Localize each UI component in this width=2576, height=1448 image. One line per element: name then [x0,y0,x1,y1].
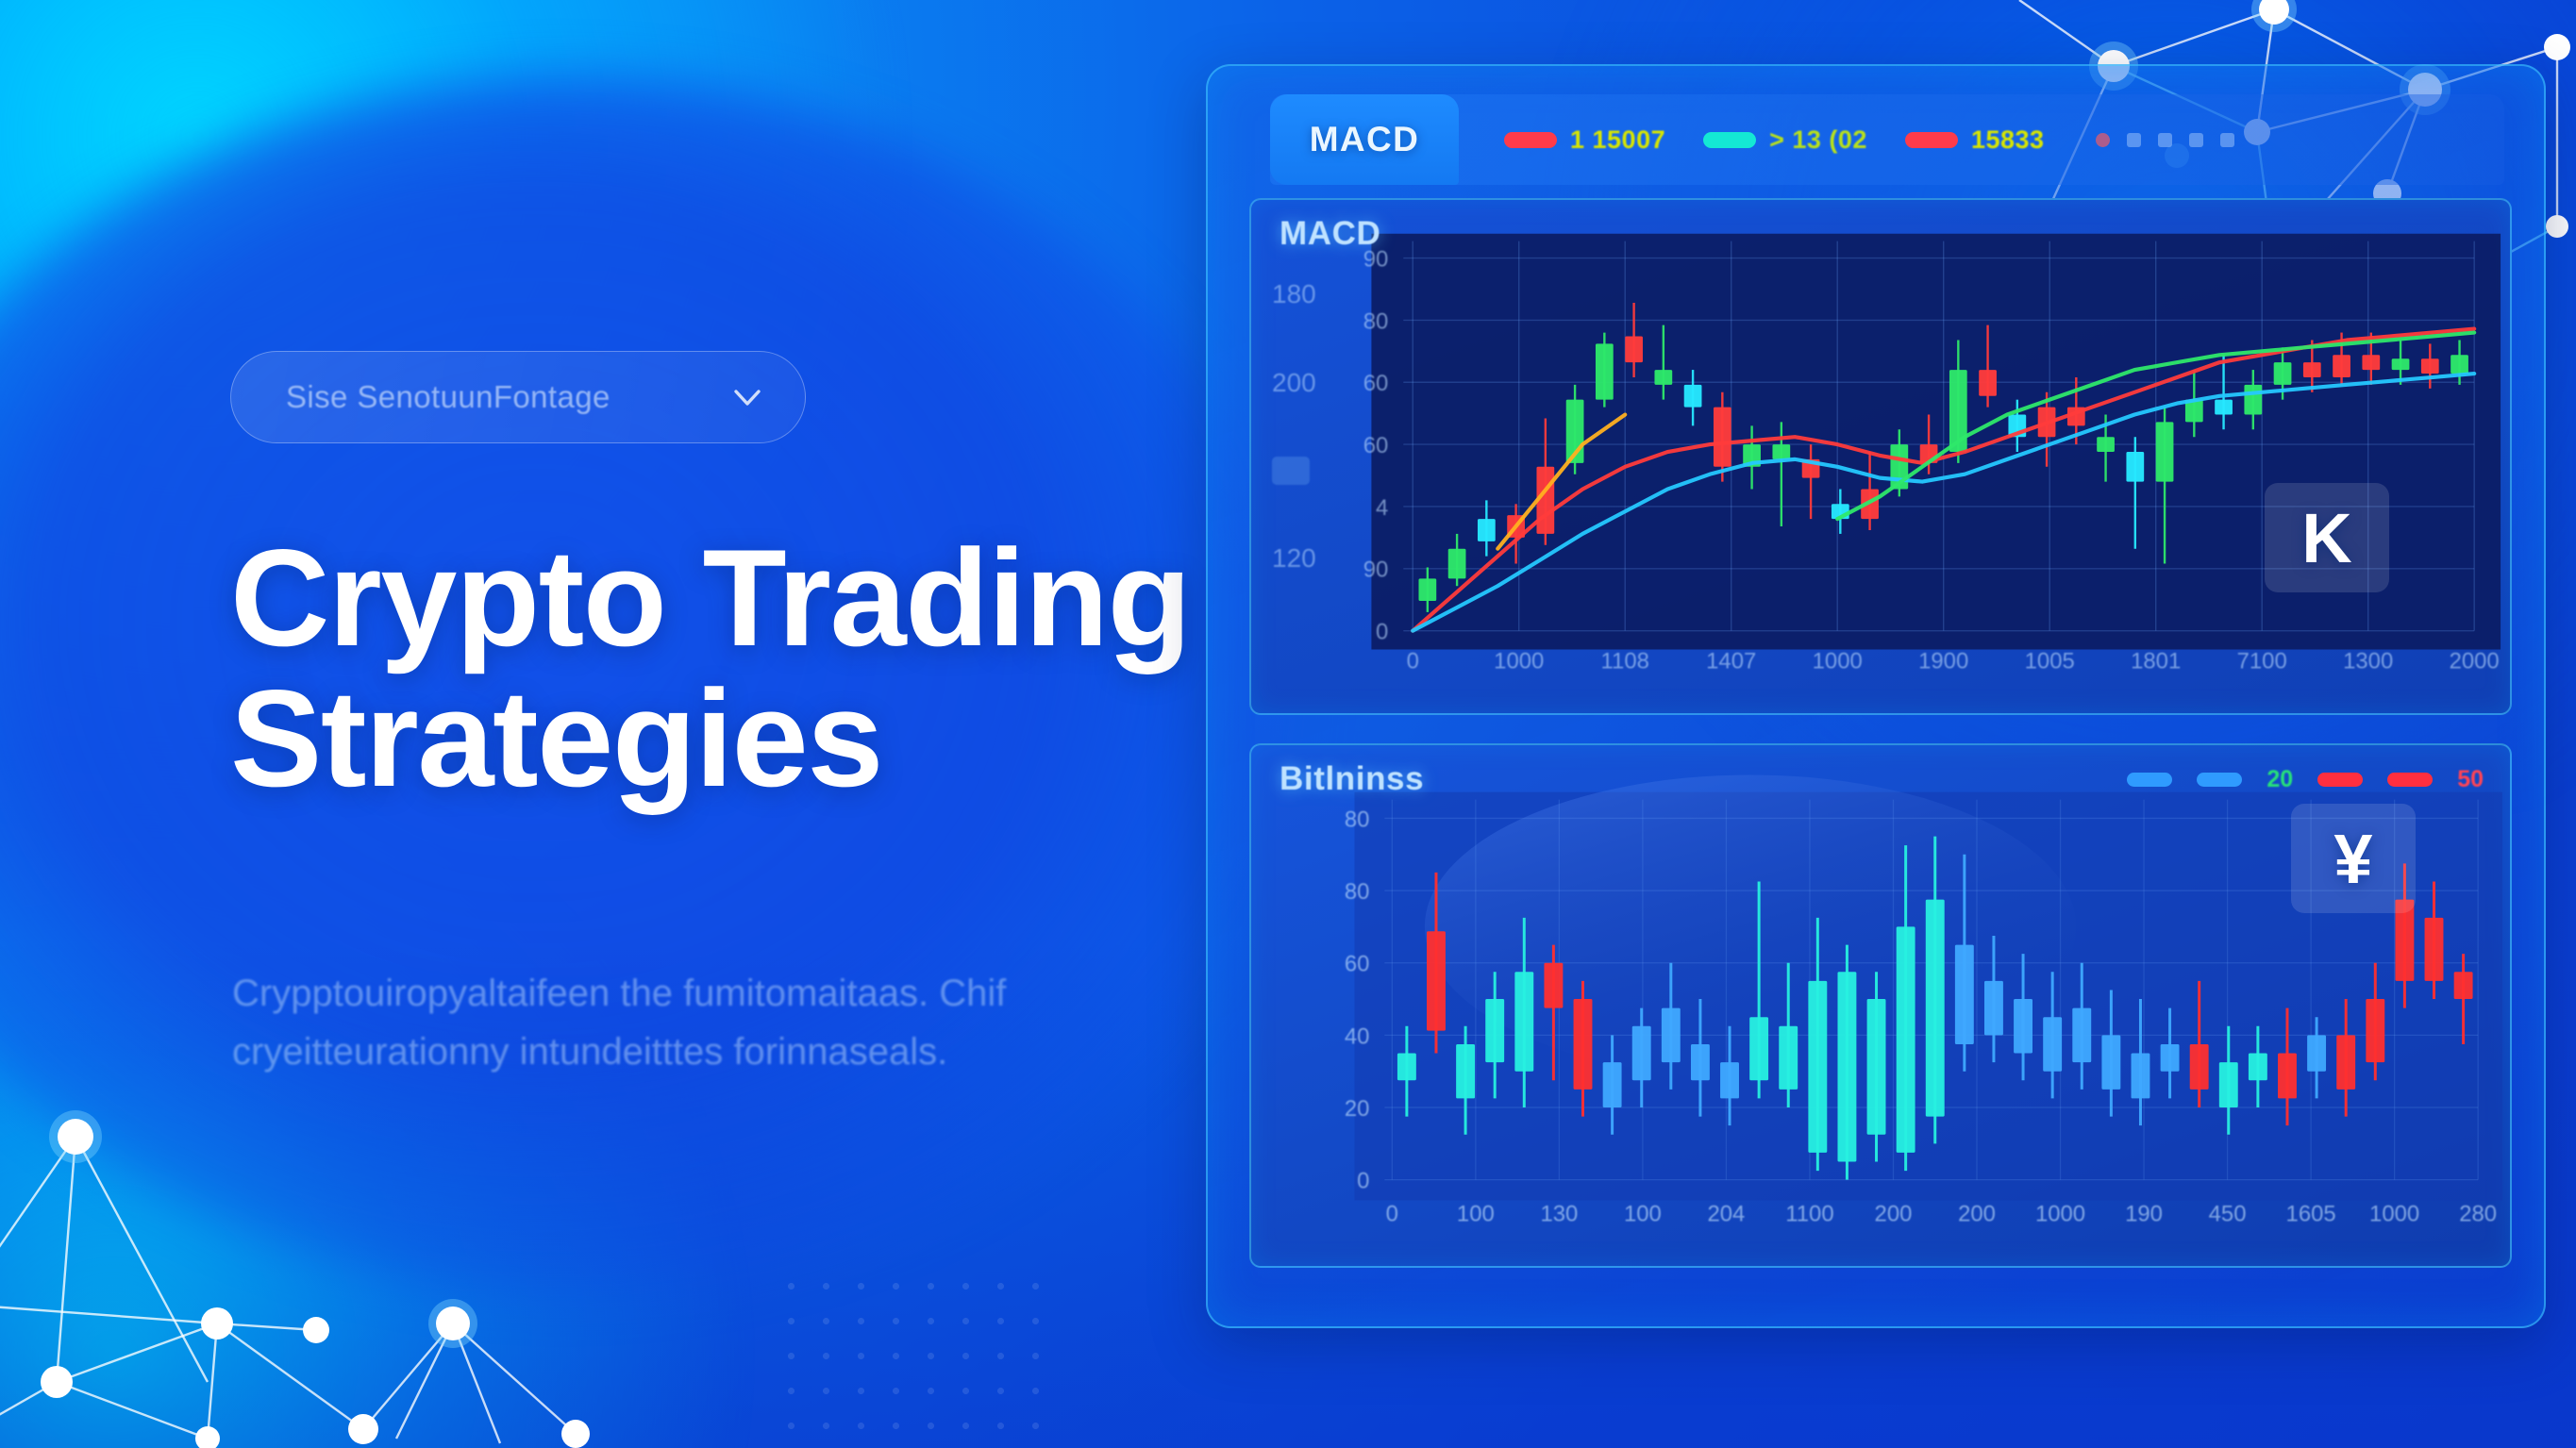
svg-text:1005: 1005 [2025,648,2075,674]
chevron-down-icon [731,381,763,413]
macd-panel-title: MACD [1280,215,1380,253]
svg-text:1801: 1801 [2131,648,2181,674]
svg-text:450: 450 [2209,1201,2247,1226]
svg-text:190: 190 [2125,1201,2163,1226]
strategy-dropdown-label: Sise SenotuunFontage [286,379,611,415]
macd-chart-card: MACD 180 200 120 90806060490001000110814… [1249,198,2512,715]
svg-text:0: 0 [1386,1201,1398,1226]
toolbar-status-dots [2096,133,2234,147]
tab-macd[interactable]: MACD [1270,94,1459,185]
status-dot [2220,133,2234,147]
tab-macd-label: MACD [1310,120,1420,159]
svg-text:1000: 1000 [1813,648,1863,674]
svg-text:80: 80 [1345,879,1370,905]
svg-text:1000: 1000 [1494,648,1544,674]
volume-chart-card: Bitlninss 20 50 808060402000100130100204… [1249,743,2512,1268]
legend-item: 1 15007 [1504,125,1665,155]
legend-swatch [2127,773,2172,787]
svg-text:60: 60 [1363,433,1389,458]
side-value: 200 [1272,368,1316,398]
legend-swatch [1504,132,1557,148]
legend-value: 50 [2457,766,2484,793]
legend-item: > 13 (02 [1703,125,1867,155]
legend-swatch [2317,773,2363,787]
svg-text:80: 80 [1345,807,1370,832]
volume-currency-badge: ¥ [2291,804,2416,913]
dashboard-toolbar: MACD 1 15007 > 13 (02 15833 [1270,94,2504,185]
volume-legend: 20 50 [2127,766,2484,793]
svg-text:1000: 1000 [2369,1201,2419,1226]
subtitle-line-2: cryeitteurationny intundeitttes forinnas… [232,1023,1081,1081]
poster-stage: Sise SenotuunFontage Crypto Trading Stra… [0,0,2576,1448]
svg-text:100: 100 [1624,1201,1662,1226]
toolbar-legend: 1 15007 > 13 (02 15833 [1504,125,2045,155]
macd-currency-badge: K [2265,483,2389,592]
legend-item: 15833 [1905,125,2045,155]
legend-swatch [2197,773,2242,787]
svg-text:1000: 1000 [2035,1201,2085,1226]
strategy-dropdown[interactable]: Sise SenotuunFontage [230,351,806,443]
macd-badge-label: K [2301,498,2351,578]
status-dot [2189,133,2203,147]
svg-text:200: 200 [1958,1201,1996,1226]
svg-text:1100: 1100 [1785,1201,1833,1226]
svg-text:1407: 1407 [1706,648,1756,674]
svg-text:1605: 1605 [2286,1201,2336,1226]
svg-text:130: 130 [1540,1201,1578,1226]
svg-text:100: 100 [1457,1201,1495,1226]
side-value: 180 [1272,279,1316,309]
macd-side-values: 180 200 120 [1272,279,1316,574]
hero-subtitle: Crypptouiropyaltaifeen the fumitomaitaas… [232,964,1081,1082]
svg-text:1900: 1900 [1918,648,1968,674]
svg-text:1108: 1108 [1601,648,1649,674]
legend-value: 20 [2267,766,2293,793]
svg-text:0: 0 [1357,1169,1369,1194]
status-dot [2158,133,2172,147]
svg-text:4: 4 [1376,495,1388,521]
svg-text:204: 204 [1708,1201,1746,1226]
side-value: 120 [1272,543,1316,574]
subtitle-line-1: Crypptouiropyaltaifeen the fumitomaitaas… [232,964,1081,1023]
legend-swatch [1703,132,1756,148]
svg-text:20: 20 [1345,1096,1370,1122]
status-dot-red [2096,133,2110,147]
legend-swatch [1905,132,1958,148]
svg-text:7100: 7100 [2237,648,2287,674]
svg-text:60: 60 [1363,371,1389,396]
legend-value: > 13 (02 [1769,125,1867,155]
volume-badge-label: ¥ [2333,819,2372,899]
svg-text:40: 40 [1345,1024,1370,1049]
trading-dashboard: MACD 1 15007 > 13 (02 15833 [1206,64,2546,1328]
legend-value: 1 15007 [1570,125,1665,155]
macd-plot: 9080606049000100011081407100019001005180… [1251,200,2510,713]
headline-line-1: Crypto Trading [230,521,1190,674]
svg-text:2000: 2000 [2450,648,2500,674]
svg-text:1300: 1300 [2343,648,2393,674]
side-indicator-icon [1272,457,1310,485]
volume-panel-title: Bitlninss [1280,760,1424,798]
svg-text:80: 80 [1363,308,1389,334]
legend-value: 15833 [1971,125,2045,155]
svg-text:280: 280 [2459,1201,2497,1226]
legend-swatch [2387,773,2433,787]
svg-text:200: 200 [1875,1201,1913,1226]
svg-text:60: 60 [1345,952,1370,977]
status-dot [2127,133,2141,147]
svg-text:90: 90 [1363,558,1389,583]
svg-text:0: 0 [1376,620,1388,645]
hero-column: Sise SenotuunFontage Crypto Trading Stra… [0,0,1227,1448]
svg-text:0: 0 [1407,648,1419,674]
